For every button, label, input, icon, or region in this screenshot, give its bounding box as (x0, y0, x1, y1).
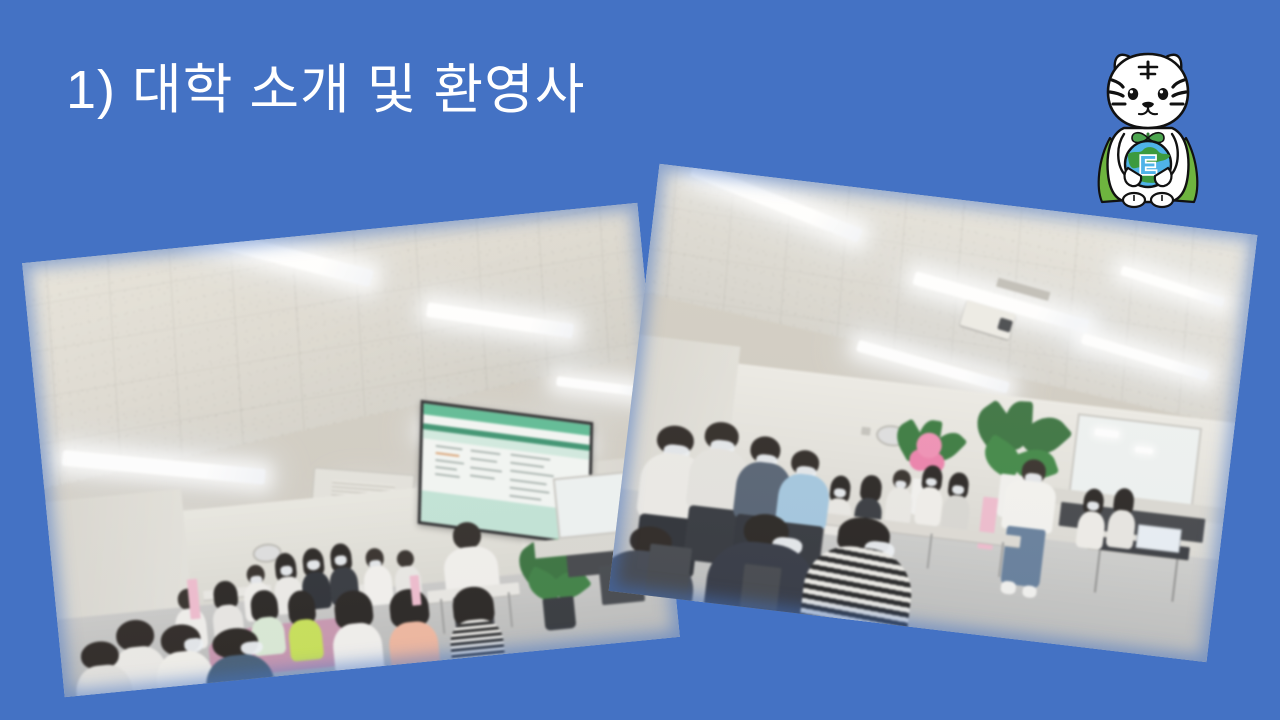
slide-canvas: 1) 대학 소개 및 환영사 (0, 0, 1280, 720)
photo-left-seminar-room (22, 203, 680, 697)
photo-right-lecture-room (609, 164, 1258, 662)
page-title: 1) 대학 소개 및 환영사 (66, 60, 585, 120)
white-tiger-mascot-icon: E (1088, 42, 1208, 214)
